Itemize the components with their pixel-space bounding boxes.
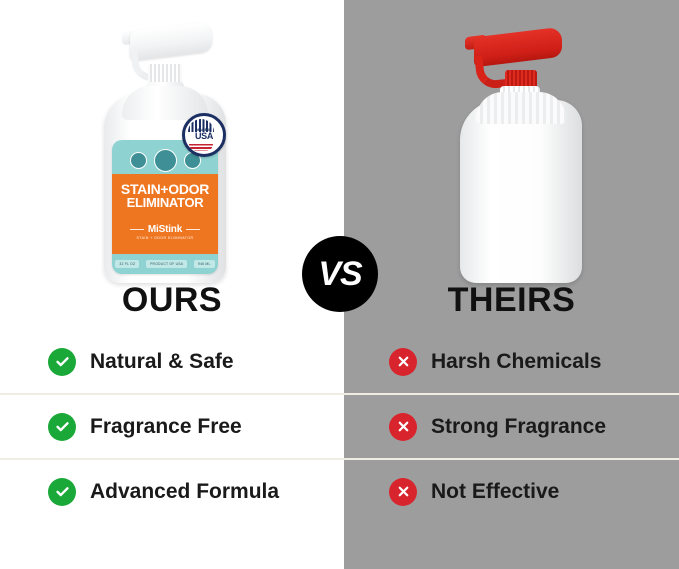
brand-rule-right bbox=[186, 229, 200, 230]
product-bottle-ours: STAIN+ODOR ELIMINATOR MiStink STAIN + OD… bbox=[104, 18, 226, 283]
table-row: Advanced Formula Not Effective bbox=[0, 458, 679, 523]
row-cell-theirs: Strong Fragrance bbox=[344, 395, 679, 458]
feature-label-ours: Advanced Formula bbox=[90, 480, 279, 504]
row-cell-ours: Advanced Formula bbox=[0, 460, 344, 523]
bottle-shoulder-theirs bbox=[476, 92, 566, 124]
check-circle-icon bbox=[48, 478, 76, 506]
label-origin: PRODUCT OF USA bbox=[146, 260, 187, 268]
x-circle-icon bbox=[389, 478, 417, 506]
paw-badge-icon bbox=[154, 149, 177, 172]
row-cell-theirs: Harsh Chemicals bbox=[344, 330, 679, 393]
feature-label-ours: Natural & Safe bbox=[90, 350, 234, 374]
label-volume-ml: 946 ML bbox=[194, 260, 215, 268]
feature-label-theirs: Strong Fragrance bbox=[431, 415, 606, 439]
label-title-line2: ELIMINATOR bbox=[112, 196, 218, 210]
feature-label-theirs: Harsh Chemicals bbox=[431, 350, 601, 374]
product-bottle-theirs bbox=[460, 26, 582, 283]
feature-label-ours: Fragrance Free bbox=[90, 415, 242, 439]
comparison-infographic: STAIN+ODOR ELIMINATOR MiStink STAIN + OD… bbox=[0, 0, 679, 569]
brand-name: MiStink bbox=[148, 224, 182, 235]
label-tagline: STAIN + ODOR ELIMINATOR bbox=[112, 236, 218, 240]
check-circle-icon bbox=[48, 348, 76, 376]
label-brand-row: MiStink bbox=[112, 224, 218, 235]
comparison-table: Natural & Safe Harsh Chemicals Fragrance… bbox=[0, 330, 679, 569]
feature-label-theirs: Not Effective bbox=[431, 480, 559, 504]
check-circle-icon bbox=[48, 413, 76, 441]
bottle-body-theirs bbox=[460, 100, 582, 283]
row-cell-ours: Natural & Safe bbox=[0, 330, 344, 393]
table-row: Natural & Safe Harsh Chemicals bbox=[0, 330, 679, 393]
label-volume-oz: 32 FL OZ bbox=[115, 260, 139, 268]
seal-stripes bbox=[189, 144, 213, 151]
label-title: STAIN+ODOR ELIMINATOR bbox=[112, 182, 218, 210]
label-footer-row: 32 FL OZ PRODUCT OF USA 946 ML bbox=[112, 256, 218, 272]
x-circle-icon bbox=[389, 413, 417, 441]
row-cell-theirs: Not Effective bbox=[344, 460, 679, 523]
made-in-usa-seal-icon: MADE IN USA bbox=[182, 113, 226, 157]
product-label: STAIN+ODOR ELIMINATOR MiStink STAIN + OD… bbox=[112, 140, 218, 274]
spray-badge-icon bbox=[130, 152, 147, 169]
column-heading-ours: OURS bbox=[0, 281, 344, 319]
column-heading-theirs: THEIRS bbox=[344, 281, 679, 319]
brand-rule-left bbox=[130, 229, 144, 230]
seal-line2: USA bbox=[185, 131, 223, 141]
table-row: Fragrance Free Strong Fragrance bbox=[0, 393, 679, 458]
row-cell-ours: Fragrance Free bbox=[0, 395, 344, 458]
x-circle-icon bbox=[389, 348, 417, 376]
